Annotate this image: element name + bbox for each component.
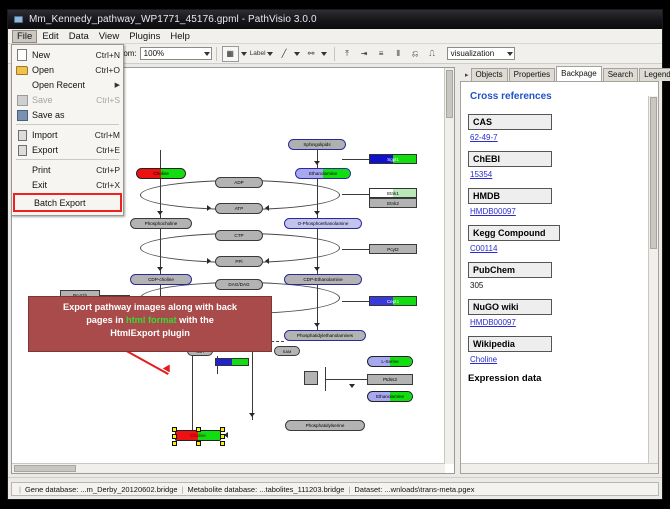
file-menu-item-print[interactable]: Print Ctrl+P <box>12 162 123 177</box>
metabolite-node[interactable]: L-Serine <box>367 356 413 367</box>
status-bar: | Gene database: ...m_Derby_20120602.bri… <box>8 477 662 499</box>
xref-link[interactable]: HMDB00097 <box>470 207 516 216</box>
xref-link[interactable]: HMDB00097 <box>470 318 516 327</box>
xref-source-chebi: ChEBI <box>468 151 552 167</box>
status-metabolite-database: Metabolite database: ...tabolites_111203… <box>188 485 345 494</box>
metabolite-node[interactable]: DAG/DAG <box>215 279 263 290</box>
window-title: Mm_Kennedy_pathway_WP1771_45176.gpml - P… <box>29 14 317 25</box>
tab-backpage[interactable]: Backpage <box>556 66 602 81</box>
resize-handle[interactable] <box>196 441 201 446</box>
file-menu-label: Exit <box>32 180 96 190</box>
node-label: L-Serine <box>381 359 398 364</box>
metabolite-node[interactable]: SAM <box>274 346 300 356</box>
menu-separator <box>16 159 119 160</box>
file-menu-item-batch-export[interactable]: Batch Export <box>13 193 122 212</box>
file-menu-label: Print <box>32 165 96 175</box>
spacer-icon <box>15 179 28 190</box>
metabolite-node[interactable]: ADP <box>215 177 263 188</box>
tab-properties[interactable]: Properties <box>509 68 555 81</box>
file-menu-item-open[interactable]: Open Ctrl+O <box>12 62 123 77</box>
gene-node[interactable]: Cept1 <box>369 296 417 306</box>
tab-objects[interactable]: Objects <box>471 68 508 81</box>
file-menu-accelerator: Ctrl+X <box>96 180 120 190</box>
resize-handle[interactable] <box>220 427 225 432</box>
xref-link[interactable]: 15354 <box>470 170 492 179</box>
visualization-chevron-icon <box>507 52 513 56</box>
menu-help[interactable]: Help <box>165 30 195 43</box>
distribute-horizontal-icon[interactable]: ⦀ <box>391 47 406 61</box>
callout-line-2-a: pages in <box>86 315 126 325</box>
file-menu-label: New <box>32 50 96 60</box>
callout-line-1: Export pathway images along with back <box>35 301 265 314</box>
edge <box>252 341 253 420</box>
application-window: Mm_Kennedy_pathway_WP1771_45176.gpml - P… <box>7 9 663 500</box>
xref-source-pubchem: PubChem <box>468 262 552 278</box>
status-divider: | <box>182 485 184 494</box>
expression-legend-block <box>215 358 249 366</box>
common-width-icon[interactable]: ⎌ <box>408 47 423 61</box>
file-menu-label: Save <box>32 95 96 105</box>
file-menu-label: Save as <box>32 110 120 120</box>
common-height-icon[interactable]: ⎍ <box>425 47 440 61</box>
metabolite-node[interactable]: CTP <box>215 230 263 241</box>
metabolite-node[interactable]: PPi <box>215 256 263 267</box>
resize-handle[interactable] <box>172 441 177 446</box>
expression-data-title: Expression data <box>468 373 648 384</box>
title-bar: Mm_Kennedy_pathway_WP1771_45176.gpml - P… <box>8 10 662 29</box>
metabolite-node[interactable]: Phosphocholine <box>130 218 192 229</box>
screenshot-root: Mm_Kennedy_pathway_WP1771_45176.gpml - P… <box>0 0 670 509</box>
spacer-icon <box>15 164 28 175</box>
xref-source-nugo: NuGO wiki <box>468 299 552 315</box>
status-bar-content: | Gene database: ...m_Derby_20120602.bri… <box>11 482 659 496</box>
node-label: Ethanolamine <box>376 394 404 399</box>
panel-tabstrip: ▸ Objects Properties Backpage Search Leg… <box>460 67 659 81</box>
xref-value-cas[interactable]: 62-49-7 <box>470 133 648 142</box>
panel-vertical-scrollbar[interactable] <box>648 96 658 464</box>
xref-value-nugo[interactable]: HMDB00097 <box>470 318 648 327</box>
metabolite-node[interactable]: Choline <box>136 168 186 179</box>
metabolite-node[interactable]: CDP-Ethanolamine <box>284 274 362 285</box>
status-gene-database: Gene database: ...m_Derby_20120602.bridg… <box>25 485 178 494</box>
side-panel: ▸ Objects Properties Backpage Search Leg… <box>460 67 659 474</box>
callout-line-3: HtmlExport plugin <box>35 327 265 340</box>
menu-edit[interactable]: Edit <box>37 30 63 43</box>
status-dataset: Dataset: ...wnloads\trans-meta.pgex <box>354 485 474 494</box>
import-icon <box>15 129 28 140</box>
tab-search[interactable]: Search <box>603 68 638 81</box>
file-menu-accelerator: Ctrl+S <box>96 95 120 105</box>
edge <box>342 159 369 160</box>
metabolite-node[interactable]: Phosphatidylserine <box>285 420 365 431</box>
metabolite-node[interactable]: CDP-choline <box>130 274 192 285</box>
arrow-icon <box>265 258 269 264</box>
arrow-icon <box>265 205 269 211</box>
edge <box>342 249 369 250</box>
visualization-combobox[interactable]: visualization <box>447 47 515 60</box>
resize-handle[interactable] <box>196 427 201 432</box>
xref-source-hmdb: HMDB <box>468 188 552 204</box>
file-menu-accelerator: Ctrl+E <box>96 145 120 155</box>
align-top-icon[interactable]: ⤒ <box>340 47 355 61</box>
node-label: Ethanolamine <box>309 171 337 176</box>
scrollbar-thumb[interactable] <box>446 70 453 118</box>
metabolite-node[interactable]: ATP <box>215 203 263 214</box>
xref-source-wikipedia: Wikipedia <box>468 336 552 352</box>
datanode-icon[interactable]: ▦ <box>222 46 239 62</box>
file-menu-label: Export <box>32 145 96 155</box>
toolbar-separator-2 <box>334 47 335 61</box>
line-icon[interactable]: ╱ <box>277 47 292 61</box>
xref-value-pubchem: 305 <box>470 281 648 290</box>
canvas-vertical-scrollbar[interactable] <box>444 68 454 464</box>
toolbar-separator <box>216 47 217 61</box>
save-icon <box>15 94 28 105</box>
gene-node[interactable]: Etnk1 <box>369 188 417 198</box>
node-label: Cept1 <box>387 299 399 304</box>
tab-scroll-icon[interactable]: ▸ <box>465 71 469 81</box>
canvas-horizontal-scrollbar[interactable] <box>12 463 445 473</box>
callout-highlight: html format <box>126 315 177 325</box>
arrow-icon <box>314 267 320 271</box>
edge <box>160 150 161 168</box>
resize-handle[interactable] <box>172 434 177 439</box>
menu-data[interactable]: Data <box>64 30 94 43</box>
document-icon <box>13 14 24 25</box>
file-menu-item-save: Save Ctrl+S <box>12 92 123 107</box>
callout-line-2: pages in html format with the <box>35 314 265 327</box>
file-menu-item-exit[interactable]: Exit Ctrl+X <box>12 177 123 192</box>
export-icon <box>15 144 28 155</box>
resize-handle[interactable] <box>220 434 225 439</box>
save-as-icon <box>15 109 28 120</box>
file-menu-accelerator: Ctrl+O <box>95 65 120 75</box>
gene-node[interactable]: Ptdss2 <box>367 374 413 385</box>
distribute-vertical-icon[interactable]: ≡ <box>374 47 389 61</box>
menu-separator <box>16 124 119 125</box>
arrow-icon <box>349 384 355 388</box>
submenu-arrow-icon: ▶ <box>115 81 120 89</box>
resize-handle[interactable] <box>172 427 177 432</box>
arrow-icon <box>207 258 211 264</box>
arrow-icon <box>207 205 211 211</box>
label-tool-label[interactable]: Label <box>250 50 266 57</box>
arrow-icon <box>157 267 163 271</box>
node-label: Choline <box>153 171 169 176</box>
edge <box>325 379 367 380</box>
xref-link[interactable]: 62-49-7 <box>470 133 498 142</box>
spacer-icon <box>15 79 28 90</box>
file-menu-item-open-recent[interactable]: Open Recent ▶ <box>12 77 123 92</box>
scrollbar-thumb[interactable] <box>650 97 657 249</box>
tab-legend[interactable]: Legend <box>639 68 670 81</box>
menu-view[interactable]: View <box>94 30 124 43</box>
file-menu-accelerator: Ctrl+N <box>96 50 120 60</box>
file-menu-item-save-as[interactable]: Save as <box>12 107 123 122</box>
line-chevron-icon[interactable] <box>294 52 300 56</box>
menu-bar: File Edit Data View Plugins Help <box>8 29 662 44</box>
open-folder-icon <box>15 64 28 75</box>
edge <box>317 150 318 168</box>
file-menu-accelerator: Ctrl+M <box>95 130 120 140</box>
xref-value-wikipedia[interactable]: Choline <box>470 355 648 364</box>
node-label: Sgpl1 <box>387 157 399 162</box>
interaction-chevron-icon[interactable] <box>321 52 327 56</box>
gene-node[interactable]: Pcyt2 <box>369 244 417 254</box>
panel-horizontal-scrollbar[interactable] <box>461 463 658 473</box>
metabolite-node[interactable]: Ethanolamine <box>295 168 351 179</box>
xref-value-chebi[interactable]: 15354 <box>470 170 648 179</box>
anchor-block[interactable] <box>304 371 318 385</box>
zoom-combobox[interactable]: 100% <box>140 47 212 60</box>
file-menu-label: Import <box>32 130 95 140</box>
menu-file[interactable]: File <box>12 30 37 43</box>
scrollbar-thumb[interactable] <box>14 465 76 472</box>
node-label: Etnk1 <box>387 191 399 196</box>
file-menu-label: Batch Export <box>34 198 118 208</box>
align-left-icon[interactable]: ⇥ <box>357 47 372 61</box>
xref-link[interactable]: Choline <box>470 355 497 364</box>
node-expression-half <box>232 359 248 365</box>
metabolite-node[interactable]: Phosphatidylethanolamines <box>284 330 366 341</box>
callout-line-2-b: with the <box>177 315 214 325</box>
file-menu-popup[interactable]: New Ctrl+N Open Ctrl+O Open Recent ▶ Sav… <box>11 44 124 216</box>
edge <box>342 301 369 302</box>
file-menu-item-new[interactable]: New Ctrl+N <box>12 47 123 62</box>
status-divider: | <box>348 485 350 494</box>
new-file-icon <box>15 49 28 60</box>
file-menu-item-export[interactable]: Export Ctrl+E <box>12 142 123 157</box>
xref-source-cas: CAS <box>468 114 552 130</box>
annotation-callout: Export pathway images along with back pa… <box>28 296 272 352</box>
metabolite-node[interactable]: Sphingolipids <box>288 139 346 150</box>
cross-references-title: Cross references <box>470 91 648 102</box>
metabolite-node[interactable]: O-Phosphoethanolamine <box>284 218 362 229</box>
zoom-value: 100% <box>144 49 164 58</box>
xref-value-hmdb[interactable]: HMDB00097 <box>470 207 648 216</box>
spacer-icon <box>17 197 30 208</box>
arrow-icon <box>314 323 320 327</box>
backpage-content: Cross references CAS 62-49-7 ChEBI 15354… <box>460 81 659 474</box>
visualization-value: visualization <box>451 49 495 58</box>
file-menu-label: Open Recent <box>32 80 115 90</box>
menu-plugins[interactable]: Plugins <box>124 30 165 43</box>
xref-source-kegg: Kegg Compound <box>468 225 560 241</box>
file-menu-item-import[interactable]: Import Ctrl+M <box>12 127 123 142</box>
xref-link[interactable]: C00114 <box>470 244 497 253</box>
file-menu-accelerator: Ctrl+P <box>96 165 120 175</box>
gene-node[interactable]: Etnk2 <box>369 198 417 208</box>
file-menu-label: Open <box>32 65 95 75</box>
gene-node[interactable]: Sgpl1 <box>369 154 417 164</box>
datanode-chevron-icon[interactable] <box>241 52 247 56</box>
status-divider: | <box>19 485 21 494</box>
resize-handle[interactable] <box>220 441 225 446</box>
arrow-icon <box>157 211 163 215</box>
label-chevron-icon[interactable] <box>267 52 273 56</box>
arrow-icon <box>314 211 320 215</box>
metabolite-node[interactable]: Ethanolamine <box>367 391 413 402</box>
interaction-icon[interactable]: ⚯ <box>304 47 319 61</box>
xref-value-kegg[interactable]: C00114 <box>470 244 648 253</box>
arrow-icon <box>249 413 255 417</box>
selection-handles[interactable] <box>172 427 224 444</box>
arrow-icon <box>314 161 320 165</box>
edge <box>342 194 369 195</box>
backpage-inner: Cross references CAS 62-49-7 ChEBI 15354… <box>466 85 648 464</box>
chevron-down-icon <box>204 52 210 56</box>
